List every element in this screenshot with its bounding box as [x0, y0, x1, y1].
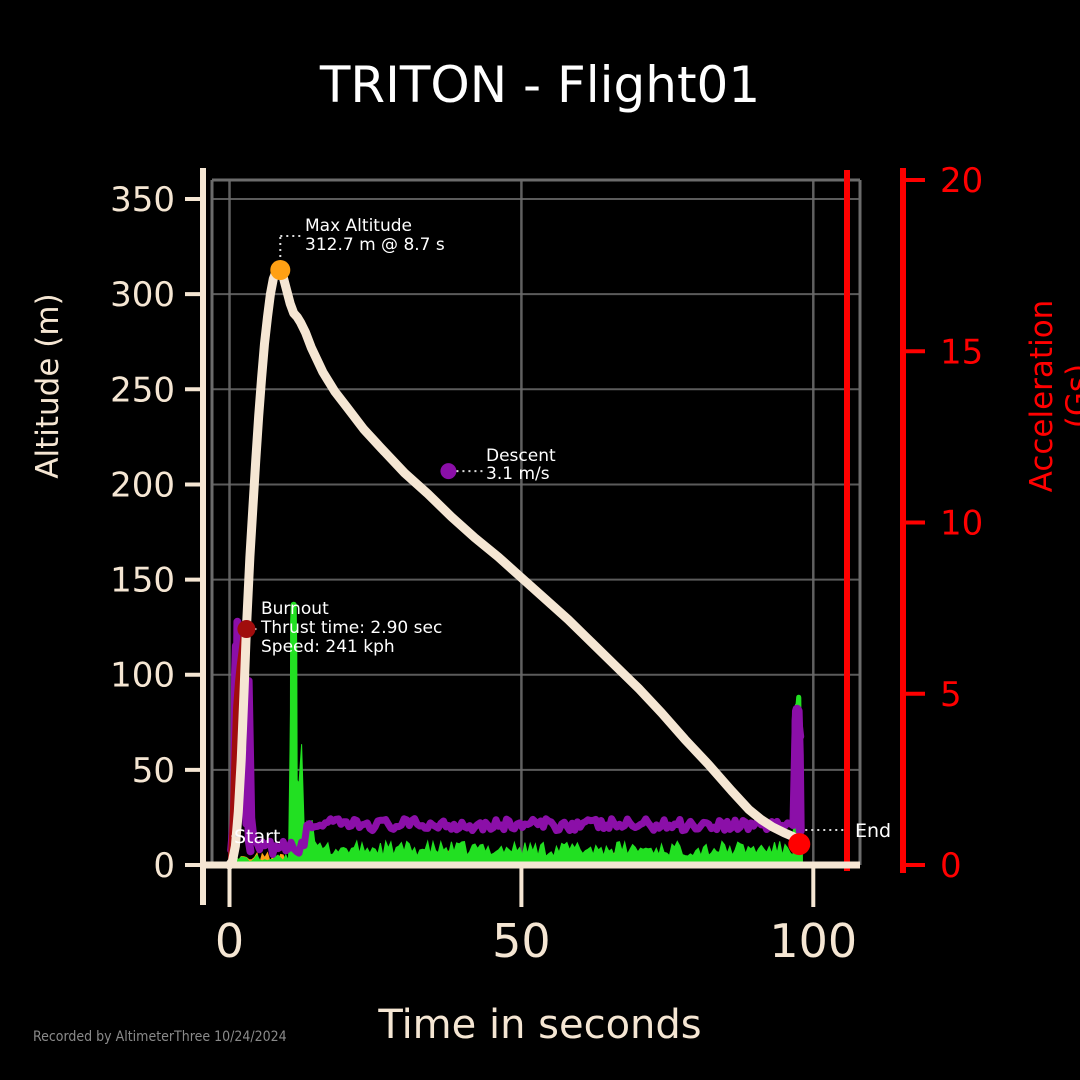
x-axis-tick-label: 50	[492, 914, 551, 968]
y-axis-left-tick-label: 150	[110, 561, 175, 601]
x-axis-tick-label: 0	[215, 914, 244, 968]
acceleration-spike-purple-landing	[795, 709, 800, 831]
y-axis-left-tick-label: 0	[153, 846, 175, 886]
y-axis-right-tick-label: 5	[940, 675, 962, 715]
y-axis-left-tick-label: 100	[110, 656, 175, 696]
y-axis-left-tick-label: 300	[110, 275, 175, 315]
y-axis-left-tick-label: 50	[132, 751, 175, 791]
altitude-curve	[230, 270, 805, 865]
apogee-marker[interactable]	[270, 260, 290, 280]
burnout-marker[interactable]	[237, 620, 255, 638]
y-axis-left-tick-label: 200	[110, 465, 175, 505]
end-marker[interactable]	[788, 833, 810, 855]
y-axis-right-tick-label: 10	[940, 504, 983, 544]
descent-marker[interactable]	[440, 463, 456, 479]
y-axis-right-tick-label: 20	[940, 161, 983, 201]
y-axis-right-tick-label: 15	[940, 332, 983, 372]
x-axis-tick-label: 100	[769, 914, 857, 968]
flight-plot: 05010015020025030035005101520050100	[0, 0, 1080, 1080]
acceleration-spike-green	[293, 605, 295, 865]
y-axis-left-tick-label: 350	[110, 180, 175, 220]
y-axis-left-tick-label: 250	[110, 370, 175, 410]
chart-root: TRITON - Flight01 Altitude (m) Accelerat…	[0, 0, 1080, 1080]
acceleration-trace-purple	[231, 653, 801, 855]
y-axis-right-tick-label: 0	[940, 846, 962, 886]
